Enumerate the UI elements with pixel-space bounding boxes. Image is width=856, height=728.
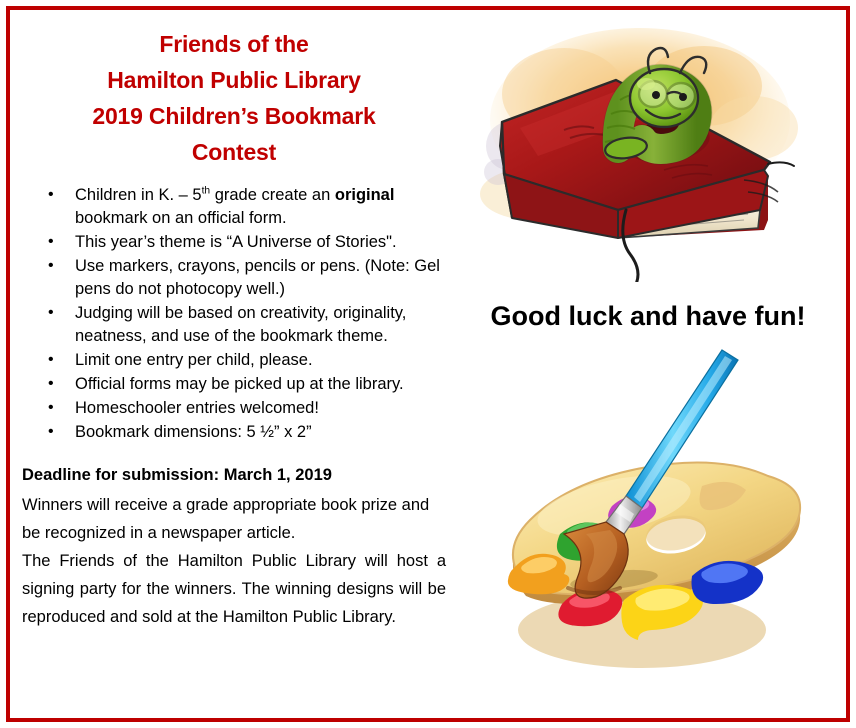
palette-illustration-svg (464, 338, 816, 688)
good-luck-text: Good luck and have fun! (452, 301, 844, 332)
bookmark-contest-flyer: Friends of the Hamilton Public Library 2… (0, 0, 856, 728)
bullet-text-grade-mid: grade create an (210, 186, 335, 204)
list-item: Bookmark dimensions: 5 ½” x 2” (22, 421, 446, 444)
bullet-text-grade-sup: th (202, 186, 211, 197)
list-item: This year’s theme is “A Universe of Stor… (22, 231, 446, 254)
list-item: Children in K. – 5th grade create an ori… (22, 184, 446, 230)
right-illustration-column: Good luck and have fun! (452, 18, 844, 708)
title-line-4: Contest (22, 134, 446, 170)
list-item: Use markers, crayons, pencils or pens. (… (22, 255, 446, 301)
winners-paragraph: Winners will receive a grade appropriate… (22, 491, 446, 547)
bullet-text-grade-bold: original (335, 186, 395, 204)
details-block: Deadline for submission: March 1, 2019 W… (22, 461, 446, 631)
paint-palette-and-brush-illustration (464, 338, 816, 688)
left-content-column: Friends of the Hamilton Public Library 2… (22, 26, 446, 631)
deadline-text: Deadline for submission: March 1, 2019 (22, 461, 446, 489)
list-item: Limit one entry per child, please. (22, 349, 446, 372)
signing-party-paragraph: The Friends of the Hamilton Public Libra… (22, 547, 446, 631)
list-item: Official forms may be picked up at the l… (22, 373, 446, 396)
contest-rules-list: Children in K. – 5th grade create an ori… (22, 184, 446, 444)
bookworm-illustration-svg (468, 24, 816, 282)
bullet-text-grade-post: bookmark on an official form. (75, 209, 287, 227)
list-item: Homeschooler entries welcomed! (22, 397, 446, 420)
title-line-3: 2019 Children’s Bookmark (22, 98, 446, 134)
list-item: Judging will be based on creativity, ori… (22, 302, 446, 348)
bullet-text-grade-pre: Children in K. – 5 (75, 186, 202, 204)
title-line-1: Friends of the (22, 26, 446, 62)
title-line-2: Hamilton Public Library (22, 62, 446, 98)
page-title: Friends of the Hamilton Public Library 2… (22, 26, 446, 170)
bookworm-on-red-book-illustration (468, 24, 816, 282)
